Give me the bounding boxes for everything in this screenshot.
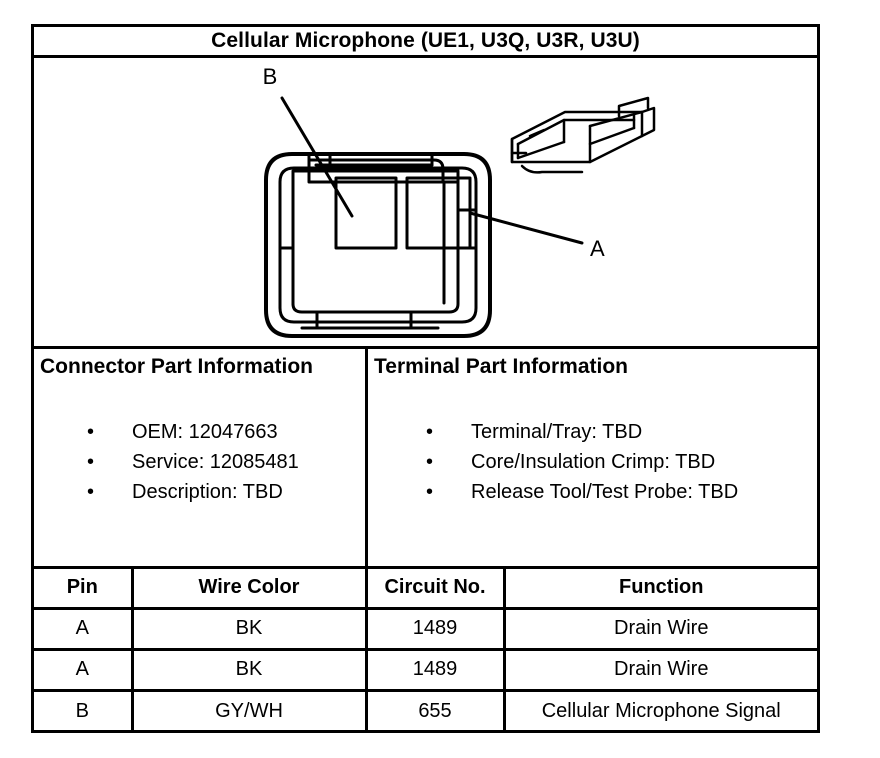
- list-item: Core/Insulation Crimp: TBD: [368, 447, 817, 477]
- cell-function: Drain Wire: [504, 608, 817, 649]
- list-item: Service: 12085481: [34, 447, 365, 477]
- connector-illustration: B A: [34, 58, 817, 349]
- connector-description-value: Description: TBD: [132, 477, 283, 507]
- cavity-b: [336, 178, 396, 248]
- release-tool-test-probe-value: Release Tool/Test Probe: TBD: [471, 477, 738, 507]
- terminal-part-list: Terminal/Tray: TBD Core/Insulation Crimp…: [368, 417, 817, 507]
- cell-pin: A: [34, 608, 132, 649]
- column-header-circuit-no: Circuit No.: [366, 569, 504, 608]
- pin-table-container: Pin Wire Color Circuit No. Function A BK…: [34, 569, 817, 730]
- terminal-tray-value: Terminal/Tray: TBD: [471, 417, 642, 447]
- connector-drawing: B A: [34, 58, 817, 343]
- terminal-part-heading: Terminal Part Information: [368, 353, 817, 381]
- bullet-icon: [87, 477, 132, 507]
- cell-circuit-no: 1489: [366, 649, 504, 690]
- cell-wire-color: GY/WH: [132, 690, 366, 731]
- table-row: B GY/WH 655 Cellular Microphone Signal: [34, 690, 817, 731]
- connector-part-list: OEM: 12047663 Service: 12085481 Descript…: [34, 417, 365, 507]
- connector-service-value: Service: 12085481: [132, 447, 299, 477]
- list-item: Release Tool/Test Probe: TBD: [368, 477, 817, 507]
- callout-label-a: A: [590, 236, 605, 261]
- connector-part-information-panel: Connector Part Information OEM: 12047663…: [34, 349, 368, 566]
- bullet-icon: [426, 447, 471, 477]
- terminal-part-information-panel: Terminal Part Information Terminal/Tray:…: [368, 349, 817, 566]
- cell-wire-color: BK: [132, 608, 366, 649]
- list-item: OEM: 12047663: [34, 417, 365, 447]
- sheet-title-row: Cellular Microphone (UE1, U3Q, U3R, U3U): [34, 27, 817, 58]
- table-row: A BK 1489 Drain Wire: [34, 608, 817, 649]
- cell-pin: A: [34, 649, 132, 690]
- column-header-wire-color: Wire Color: [132, 569, 366, 608]
- connector-oem-value: OEM: 12047663: [132, 417, 278, 447]
- bullet-icon: [426, 417, 471, 447]
- column-header-function: Function: [504, 569, 817, 608]
- cell-circuit-no: 655: [366, 690, 504, 731]
- bullet-icon: [426, 477, 471, 507]
- part-information-row: Connector Part Information OEM: 12047663…: [34, 349, 817, 569]
- leader-line-a: [470, 213, 582, 243]
- list-item: Terminal/Tray: TBD: [368, 417, 817, 447]
- cell-pin: B: [34, 690, 132, 731]
- cell-function: Drain Wire: [504, 649, 817, 690]
- page-title: Cellular Microphone (UE1, U3Q, U3R, U3U): [211, 29, 640, 53]
- cell-wire-color: BK: [132, 649, 366, 690]
- cell-function: Cellular Microphone Signal: [504, 690, 817, 731]
- connector-spec-sheet: Cellular Microphone (UE1, U3Q, U3R, U3U): [31, 24, 820, 733]
- table-header-row: Pin Wire Color Circuit No. Function: [34, 569, 817, 608]
- bullet-icon: [87, 447, 132, 477]
- cell-circuit-no: 1489: [366, 608, 504, 649]
- cavity-a: [407, 178, 470, 248]
- pin-table: Pin Wire Color Circuit No. Function A BK…: [34, 569, 817, 731]
- column-header-pin: Pin: [34, 569, 132, 608]
- table-row: A BK 1489 Drain Wire: [34, 649, 817, 690]
- connector-part-heading: Connector Part Information: [34, 353, 365, 381]
- bullet-icon: [87, 417, 132, 447]
- callout-label-b: B: [263, 64, 278, 89]
- connector-face-outline: [266, 154, 490, 336]
- connector-isometric-outline: [512, 98, 654, 172]
- core-insulation-crimp-value: Core/Insulation Crimp: TBD: [471, 447, 715, 477]
- list-item: Description: TBD: [34, 477, 365, 507]
